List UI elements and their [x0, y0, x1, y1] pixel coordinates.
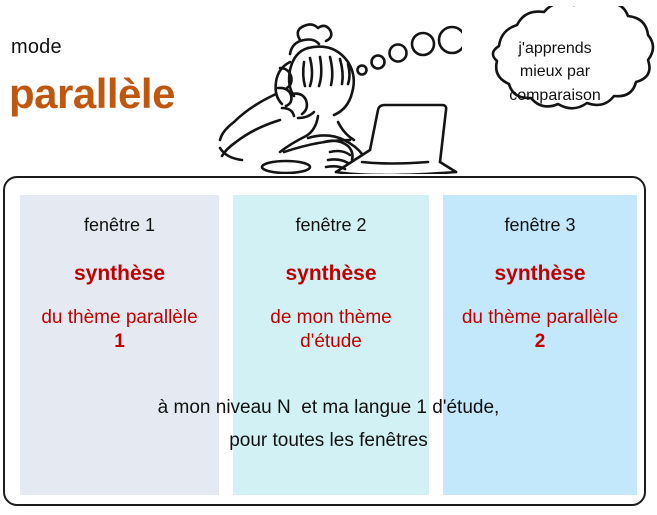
thought-line-2: mieux par — [520, 60, 590, 83]
thought-bubble-text: j'apprends mieux par comparaison — [455, 6, 655, 134]
synthese-heading-1: synthèse — [20, 261, 219, 286]
window-label-1: fenêtre 1 — [20, 215, 219, 237]
subject-number-1: 1 — [22, 330, 217, 354]
subject-number-2: d'étude — [235, 330, 427, 354]
subject-line-1: du thème parallèle — [41, 307, 197, 328]
synthese-heading-2: synthèse — [233, 261, 429, 286]
window-label-3: fenêtre 3 — [443, 215, 637, 237]
thought-bubble: j'apprends mieux par comparaison — [455, 6, 655, 134]
subject-text-3: du thème parallèle 2 — [443, 306, 637, 355]
mode-label: mode — [11, 36, 62, 59]
window-column-1[interactable]: fenêtre 1 synthèse du thème parallèle 1 — [20, 195, 219, 495]
window-column-2[interactable]: fenêtre 2 synthèse de mon thème d'étude — [233, 195, 429, 495]
subject-line-2: de mon thème — [270, 307, 391, 328]
thought-line-1: j'apprends — [518, 37, 591, 60]
subject-line-3: du thème parallèle — [462, 307, 618, 328]
header-area: mode parallèle — [0, 0, 657, 175]
synthese-heading-3: synthèse — [443, 261, 637, 286]
thought-line-3: comparaison — [509, 84, 601, 107]
window-column-1-content: fenêtre 1 synthèse du thème parallèle 1 — [20, 195, 219, 354]
window-column-3[interactable]: fenêtre 3 synthèse du thème parallèle 2 — [443, 195, 637, 495]
subject-text-1: du thème parallèle 1 — [20, 306, 219, 355]
window-column-3-content: fenêtre 3 synthèse du thème parallèle 2 — [443, 195, 637, 354]
person-at-laptop-icon — [212, 2, 462, 174]
subject-text-2: de mon thème d'étude — [233, 306, 429, 355]
window-label-2: fenêtre 2 — [233, 215, 429, 237]
mode-title: parallèle — [9, 70, 175, 118]
subject-number-3: 2 — [445, 330, 635, 354]
window-column-2-content: fenêtre 2 synthèse de mon thème d'étude — [233, 195, 429, 354]
